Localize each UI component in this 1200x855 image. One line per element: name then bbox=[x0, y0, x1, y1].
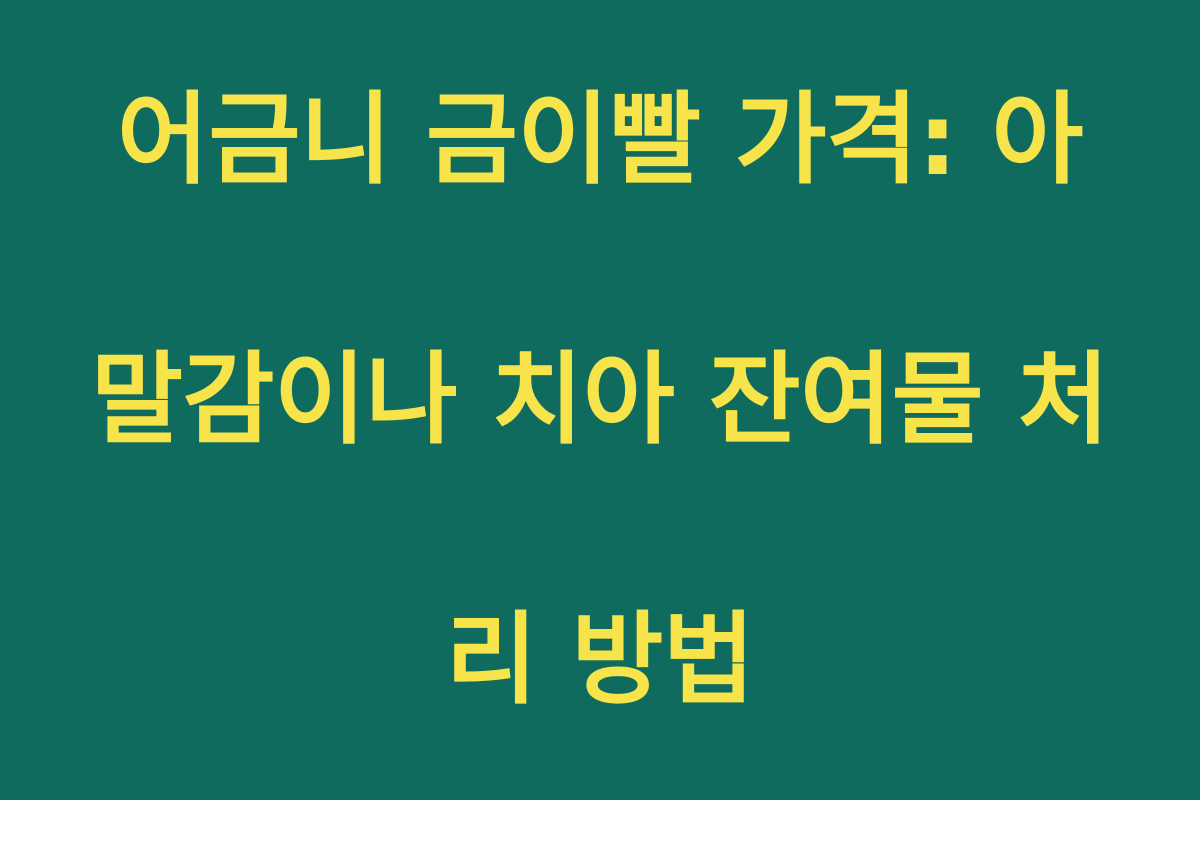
headline-line-2: 말감이나 치아 잔여물 처 bbox=[70, 335, 1130, 465]
page-title: 어금니 금이빨 가격: 아 말감이나 치아 잔여물 처 리 방법 bbox=[70, 0, 1130, 855]
headline-line-1: 어금니 금이빨 가격: 아 bbox=[70, 75, 1130, 205]
title-card: 어금니 금이빨 가격: 아 말감이나 치아 잔여물 처 리 방법 bbox=[0, 0, 1200, 800]
headline-line-3: 리 방법 bbox=[70, 595, 1130, 725]
